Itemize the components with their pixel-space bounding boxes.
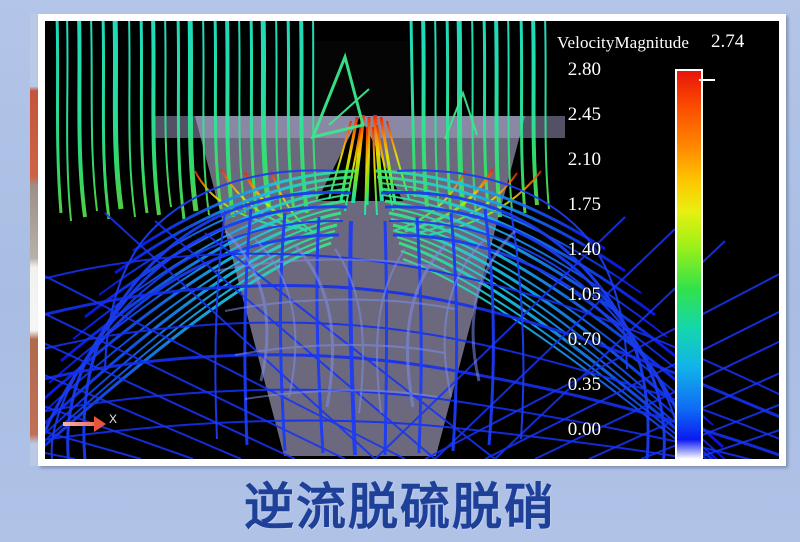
colorbar-max-tick <box>699 79 715 81</box>
x-axis-arrow-line <box>63 422 97 426</box>
x-axis-arrow-head-icon <box>94 416 106 432</box>
color-legend: VelocityMagnitude 2.80 2.45 2.10 1.75 1.… <box>515 27 765 459</box>
plot-area[interactable]: X VelocityMagnitude 2.80 2.45 2.10 1.75 … <box>45 21 779 459</box>
axis-indicator: X <box>63 413 123 435</box>
caption-text: 逆流脱硫脱硝 <box>244 482 556 532</box>
legend-tick-5: 1.05 <box>568 284 601 306</box>
legend-tick-2: 2.10 <box>568 149 601 171</box>
legend-tick-6: 0.70 <box>568 329 601 351</box>
left-edge-artifact <box>30 14 38 466</box>
x-axis-label: X <box>109 412 117 426</box>
legend-tick-7: 0.35 <box>568 374 601 396</box>
colorbar[interactable] <box>675 69 703 459</box>
legend-tick-8: 0.00 <box>568 419 601 441</box>
colorbar-gradient <box>675 69 703 459</box>
legend-title: VelocityMagnitude <box>557 33 689 53</box>
legend-tick-1: 2.45 <box>568 104 601 126</box>
legend-tick-3: 1.75 <box>568 194 601 216</box>
legend-tick-0: 2.80 <box>568 59 601 81</box>
legend-tick-4: 1.40 <box>568 239 601 261</box>
slide-caption: 逆流脱硫脱硝 <box>0 474 800 540</box>
legend-max-value: 2.74 <box>711 31 744 53</box>
visualization-panel: X VelocityMagnitude 2.80 2.45 2.10 1.75 … <box>38 14 786 466</box>
